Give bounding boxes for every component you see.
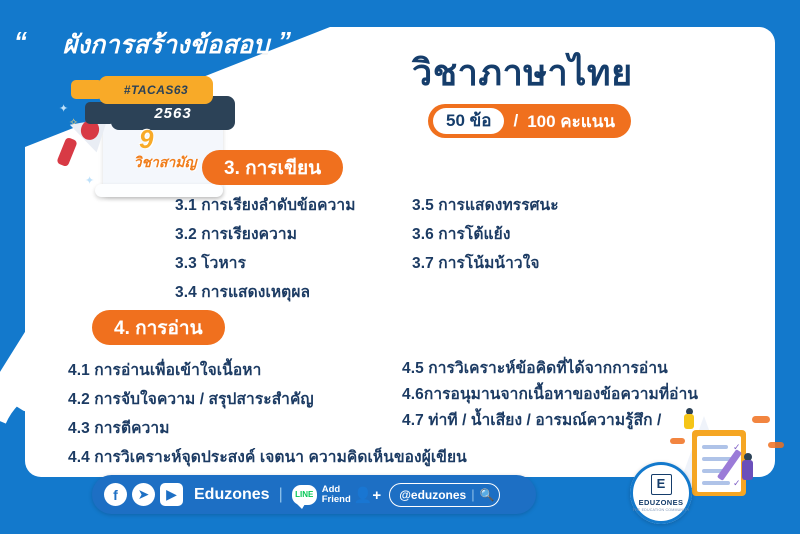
infographic-poster: “ ” ผังการสร้างข้อสอบ ✦ ✧ ✦ ✧ ✦ 2563 #TA…: [0, 0, 800, 534]
list-item: 3.3 โวหาร: [175, 250, 246, 275]
footer-divider: |: [279, 486, 283, 504]
handle-divider: |: [471, 487, 474, 502]
social-footer-bar: f ➤ ▶ Eduzones | LINE Add Friend 👤+ @edu…: [92, 475, 536, 514]
page-title: ผังการสร้างข้อสอบ: [36, 32, 296, 60]
social-handle: @eduzones: [399, 488, 466, 502]
list-item: 3.1 การเรียงลำดับข้อความ: [175, 192, 356, 217]
figure-purple-body: [742, 460, 753, 480]
list-item: 3.6 การโต้แย้ง: [412, 221, 511, 246]
facebook-icon[interactable]: f: [104, 483, 127, 506]
add-friend-line1: Add: [322, 485, 351, 495]
list-item: 3.4 การแสดงเหตุผล: [175, 279, 310, 304]
list-item: 4.5 การวิเคราะห์ข้อคิดที่ได้จากการอ่าน: [402, 355, 668, 380]
total-score: 100 คะแนน: [527, 108, 615, 135]
list-item: 4.7 ท่าที / น้ำเสียง / อารมณ์ความรู้สึก …: [402, 407, 661, 432]
check-icon: ✓: [733, 478, 741, 489]
youtube-icon[interactable]: ▶: [160, 483, 183, 506]
logo-tagline: THE EDUCATION COMMUNITY: [633, 508, 690, 512]
checklist-line: [702, 481, 730, 485]
subject-name: วิชาภาษาไทย: [412, 44, 633, 101]
list-item: 4.2 การจับใจความ / สรุปสาระสำคัญ: [68, 386, 314, 411]
logo-name: EDUZONES: [639, 498, 684, 507]
subject-number: 9: [139, 124, 153, 155]
list-item: 3.7 การโน้มน้าวใจ: [412, 250, 540, 275]
cloud-shape: [752, 416, 770, 423]
list-item: 4.1 การอ่านเพื่อเข้าใจเนื้อหา: [68, 357, 261, 382]
list-item: 4.4 การวิเคราะห์จุดประสงค์ เจตนา ความคิด…: [68, 444, 467, 469]
sparkle-icon: ✦: [59, 102, 68, 115]
logo-letter: E: [651, 474, 672, 495]
checklist-line: [702, 445, 728, 449]
score-separator: /: [513, 111, 518, 131]
line-icon[interactable]: LINE: [292, 485, 317, 505]
question-count: 50 ข้อ: [433, 108, 504, 133]
clipboard: ✓ ✓ ✓: [692, 430, 746, 496]
add-friend-label[interactable]: Add Friend: [322, 485, 351, 505]
quote-open-icon: “: [14, 28, 27, 54]
figure-yellow-body: [684, 414, 694, 429]
brand-name: Eduzones: [194, 486, 270, 504]
score-badge: 50 ข้อ / 100 คะแนน: [428, 104, 631, 138]
sparkle-icon: ✦: [85, 174, 94, 187]
list-item: 4.6การอนุมานจากเนื้อหาของข้อความที่อ่าน: [402, 381, 698, 406]
handle-search-pill[interactable]: @eduzones | 🔍: [389, 483, 499, 507]
section-heading-3: 3. การเขียน: [202, 150, 343, 185]
search-icon[interactable]: 🔍: [480, 488, 495, 502]
hashtag-banner: #TACAS63: [99, 76, 213, 104]
list-item: 4.3 การตีความ: [68, 415, 170, 440]
list-item: 3.5 การแสดงทรรศนะ: [412, 192, 559, 217]
list-item: 3.2 การเรียงความ: [175, 221, 297, 246]
add-friend-line2: Friend: [322, 495, 351, 505]
section-heading-4: 4. การอ่าน: [92, 310, 225, 345]
hashtag-label: #TACAS63: [99, 76, 213, 104]
subject-number-label: วิชาสามัญ: [117, 152, 213, 174]
eduzones-logo-badge: E EDUZONES THE EDUCATION COMMUNITY: [630, 462, 692, 524]
cloud-shape: [670, 438, 685, 444]
cloud-shape: [768, 442, 784, 448]
twitter-icon[interactable]: ➤: [132, 483, 155, 506]
megaphone-handle: [56, 137, 78, 167]
person-add-icon[interactable]: 👤+: [354, 486, 381, 504]
